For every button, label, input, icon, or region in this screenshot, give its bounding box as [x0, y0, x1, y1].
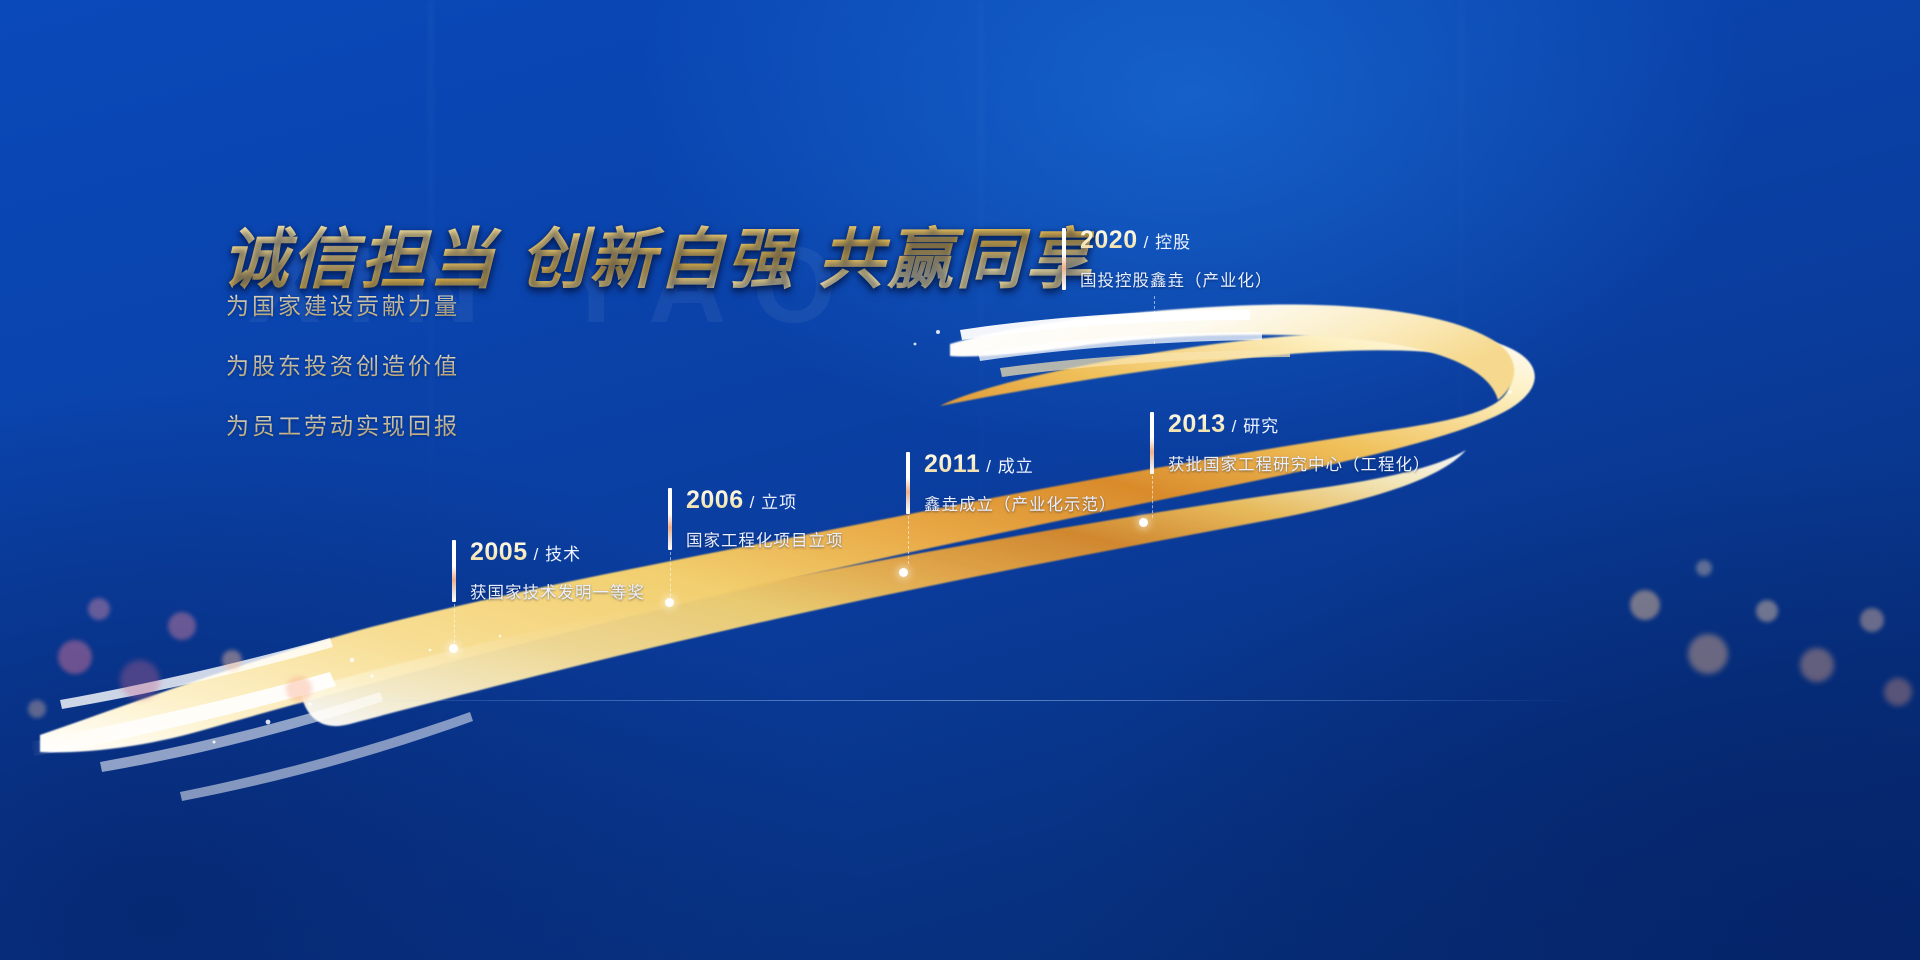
milestone-tag: / 控股	[1144, 233, 1191, 252]
horizon-divider	[340, 700, 1580, 701]
milestone-year: 2005	[470, 538, 528, 566]
milestone-dot-2013	[1139, 518, 1148, 527]
milestone-tag: / 研究	[1232, 417, 1279, 436]
slogan-line: 为员工劳动实现回报	[226, 407, 460, 441]
poster-canvas: XIN YAO	[0, 0, 1920, 960]
milestone-dot-2006	[665, 598, 674, 607]
milestone-accent-bar	[1150, 412, 1154, 474]
milestone-text: 2020/ 控股 国投控股鑫垚（产业化）	[1080, 226, 1273, 291]
milestone-text: 2013/ 研究 获批国家工程研究中心（工程化）	[1168, 410, 1431, 475]
milestone-tag: / 立项	[750, 493, 797, 512]
milestone-year: 2011	[924, 450, 980, 478]
bokeh-dot	[286, 676, 312, 702]
milestone-connector-2006	[670, 552, 672, 602]
milestone-text: 2006/ 立项 国家工程化项目立项	[686, 486, 844, 551]
slogan-list: 为国家建设贡献力量 为股东投资创造价值 为员工劳动实现回报	[226, 287, 460, 467]
milestone-accent-bar	[452, 540, 456, 602]
milestone-description: 获批国家工程研究中心（工程化）	[1168, 451, 1431, 475]
bokeh-dot	[120, 660, 160, 700]
headline-part-2: 创新自强	[520, 224, 796, 297]
milestone-description: 获国家技术发明一等奖	[470, 579, 645, 603]
milestone-connector-2020	[1154, 296, 1156, 344]
bokeh-dot	[88, 598, 110, 620]
background-light-streak	[1460, 0, 1462, 960]
bokeh-dot	[168, 612, 196, 640]
milestone-connector-2005	[454, 604, 456, 648]
milestone-description: 国投控股鑫垚（产业化）	[1080, 267, 1273, 291]
milestone-year: 2013	[1168, 410, 1226, 438]
bokeh-dot	[1756, 600, 1778, 622]
milestone-accent-bar	[906, 452, 910, 514]
slogan-line: 为股东投资创造价值	[226, 347, 460, 381]
bokeh-dot	[1688, 634, 1728, 674]
milestone-dot-2011	[899, 568, 908, 577]
headline-part-3: 共赢同享	[818, 224, 1094, 297]
milestone-year: 2006	[686, 486, 744, 514]
milestone-description: 国家工程化项目立项	[686, 527, 844, 551]
milestone-year: 2020	[1080, 226, 1138, 254]
milestone-dot-2005	[449, 644, 458, 653]
milestone-accent-bar	[1062, 228, 1066, 290]
milestone-accent-bar	[668, 488, 672, 550]
milestone-text: 2011/ 成立 鑫垚成立（产业化示范）	[924, 450, 1117, 515]
bokeh-dot	[1630, 590, 1660, 620]
milestone-description: 鑫垚成立（产业化示范）	[924, 491, 1117, 515]
bokeh-dot	[222, 650, 242, 670]
milestone-connector-2013	[1152, 476, 1154, 518]
background-light-streak	[430, 0, 432, 960]
bokeh-dot	[1884, 678, 1912, 706]
bokeh-dot	[1696, 560, 1712, 576]
milestone-tag: / 技术	[534, 545, 581, 564]
bokeh-dot	[1860, 608, 1884, 632]
slogan-line: 为国家建设贡献力量	[226, 287, 460, 321]
bokeh-dot	[28, 700, 46, 718]
bokeh-dot	[58, 640, 92, 674]
milestone-tag: / 成立	[986, 457, 1033, 476]
milestone-connector-2011	[908, 516, 910, 564]
milestone-text: 2005/ 技术 获国家技术发明一等奖	[470, 538, 645, 603]
bokeh-dot	[1800, 648, 1834, 682]
